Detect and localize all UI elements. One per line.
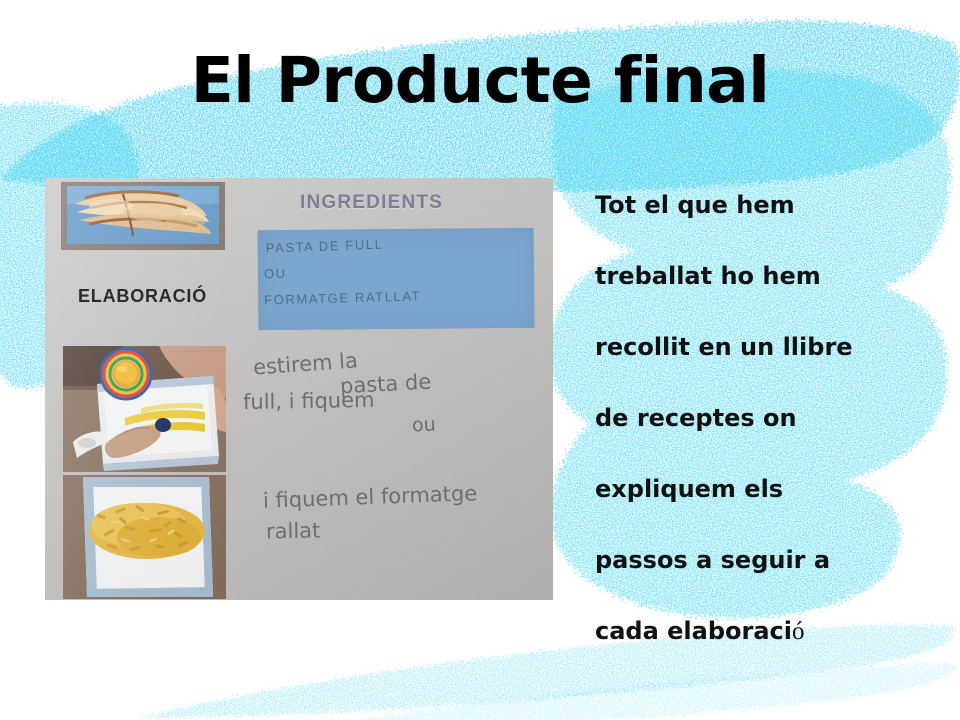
body-line: passos a seguir a <box>595 525 945 596</box>
body-line: expliquem els <box>595 454 945 525</box>
body-line: de receptes on <box>595 383 945 454</box>
handwriting-step1-line4: ou <box>412 414 436 437</box>
ingredient-item: PASTA DE FULL <box>265 237 383 256</box>
ingredient-item: FORMATGE RATLLAT <box>264 288 421 307</box>
handwriting-step2-line2: rallat <box>266 519 321 544</box>
ingredient-item: OU <box>264 266 287 282</box>
photo-grated-cheese <box>63 475 226 599</box>
label-ingredients: INGREDIENTS <box>300 192 443 214</box>
label-elaboracio: ELABORACIÓ <box>78 286 207 307</box>
body-line: treballat ho hem <box>595 241 945 312</box>
photo-brushing-egg-yolk <box>63 346 226 472</box>
body-line: Tot el que hem <box>595 170 945 241</box>
body-line: recollit en un llibre <box>595 312 945 383</box>
body-text-block: Tot el que hem treballat ho hem recollit… <box>595 170 945 667</box>
photo-baked-pastry-twists <box>61 182 225 250</box>
ingredients-sticky-note: PASTA DE FULL OU FORMATGE RATLLAT <box>258 228 535 330</box>
handwriting-step1-line3: full, i fiquem <box>243 388 375 414</box>
body-line-last-accent: ó <box>792 618 805 645</box>
body-line-last-main: cada elaboraci <box>595 617 792 645</box>
body-line-last: cada elaboració <box>595 596 945 667</box>
slide: El Producte final <box>0 0 960 720</box>
page-title: El Producte final <box>0 46 960 116</box>
